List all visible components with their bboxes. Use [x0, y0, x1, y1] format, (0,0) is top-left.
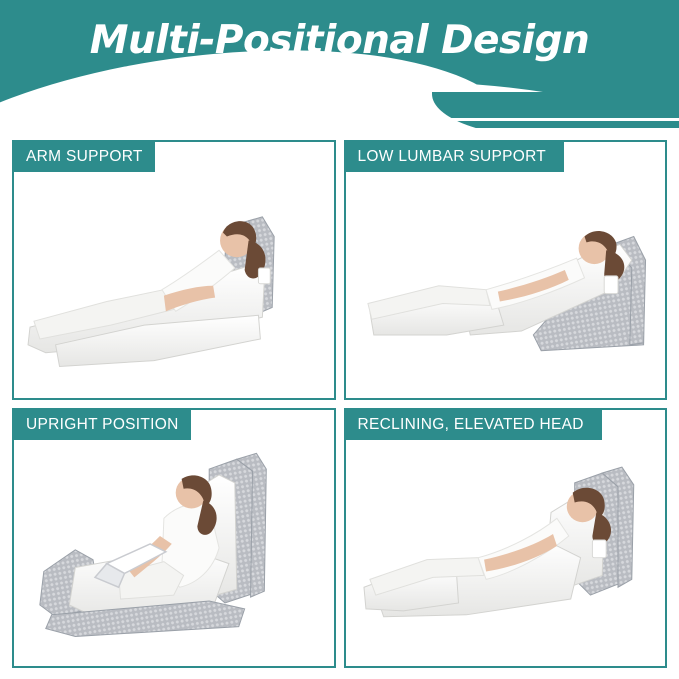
scene-reclining-elevated-head	[346, 410, 666, 666]
panel-label-upright-position: UPRIGHT POSITION	[14, 410, 191, 440]
panel-label-arm-support: ARM SUPPORT	[14, 142, 155, 172]
header-divider	[0, 118, 679, 121]
page-title: Multi-Positional Design	[0, 18, 679, 63]
scene-upright-position	[14, 410, 334, 666]
panel-grid: ARM SUPPORT	[12, 140, 667, 668]
scene-low-lumbar-support	[346, 142, 666, 398]
panel-label-reclining-elevated-head: RECLINING, ELEVATED HEAD	[346, 410, 602, 440]
panel-reclining-elevated-head: RECLINING, ELEVATED HEAD	[344, 408, 668, 668]
panel-low-lumbar-support: LOW LUMBAR SUPPORT	[344, 140, 668, 400]
panel-label-low-lumbar-support: LOW LUMBAR SUPPORT	[346, 142, 565, 172]
header-banner: Multi-Positional Design	[0, 0, 679, 128]
scene-arm-support	[14, 142, 334, 398]
panel-arm-support: ARM SUPPORT	[12, 140, 336, 400]
product-infographic: Multi-Positional Design ARM SUPPORT	[0, 0, 679, 679]
panel-upright-position: UPRIGHT POSITION	[12, 408, 336, 668]
header-teal-tail	[432, 92, 679, 128]
